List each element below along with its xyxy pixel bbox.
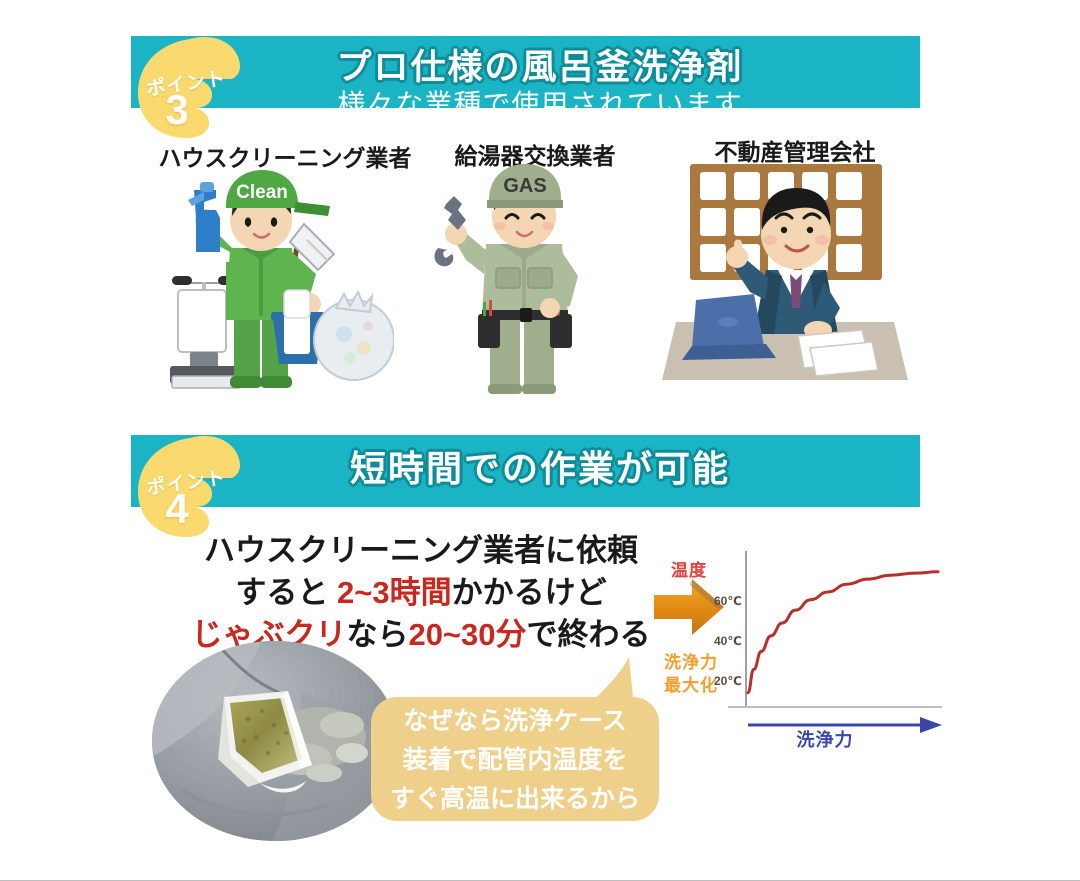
text-segment: 2~3時間 — [337, 575, 452, 610]
cleaning-worker-illustration: Clean — [158, 162, 394, 394]
point-badge-number: 4 — [142, 488, 212, 530]
bubble-line-3: すぐ高温に出来るから — [371, 780, 659, 819]
text-segment: ハウスクリーニング業者に依頼 — [204, 533, 638, 568]
svg-text:Clean: Clean — [236, 182, 288, 203]
bubble-line-1: なぜなら洗浄ケース — [371, 702, 659, 741]
text-segment: なら — [346, 617, 408, 652]
point-badge-number: 3 — [142, 89, 212, 131]
y-tick-60: 60℃ — [714, 594, 742, 608]
pointing-hand-icon: ポイント 4 — [128, 430, 256, 540]
pointing-hand-icon: ポイント 3 — [128, 31, 256, 141]
orange-arrow-label-line-1: 洗浄力 — [655, 648, 727, 673]
bubble-line-2: 装着で配管内温度を — [371, 741, 659, 780]
point4-text-line-1: ハウスクリーニング業者に依頼 — [186, 525, 656, 570]
y-tick-40: 40℃ — [714, 634, 742, 648]
svg-text:GAS: GAS — [503, 175, 546, 197]
text-segment: かかるけど — [452, 575, 607, 610]
orange-arrow-label-line-2: 最大化 — [655, 671, 727, 696]
text-segment: すると — [235, 575, 337, 610]
point4-text-line-2: すると 2~3時間かかるけど — [186, 567, 656, 612]
chart-x-axis-label: 洗浄力 — [760, 726, 890, 752]
real-estate-agent-illustration — [658, 158, 908, 386]
gas-technician-illustration: GAS — [428, 160, 628, 395]
text-segment: で終わる — [527, 617, 651, 652]
chart-y-axis-title: 温度 — [671, 556, 707, 581]
text-segment: 20~30分 — [408, 617, 526, 652]
infographic-page: プロ仕様の風呂釜洗浄剤 様々な業種で使用されています ポイント 3 ハウスクリー… — [0, 0, 1080, 881]
speech-bubble-text: なぜなら洗浄ケース 装着で配管内温度を すぐ高温に出来るから — [371, 702, 659, 819]
cleaning-case-photo — [152, 641, 398, 841]
